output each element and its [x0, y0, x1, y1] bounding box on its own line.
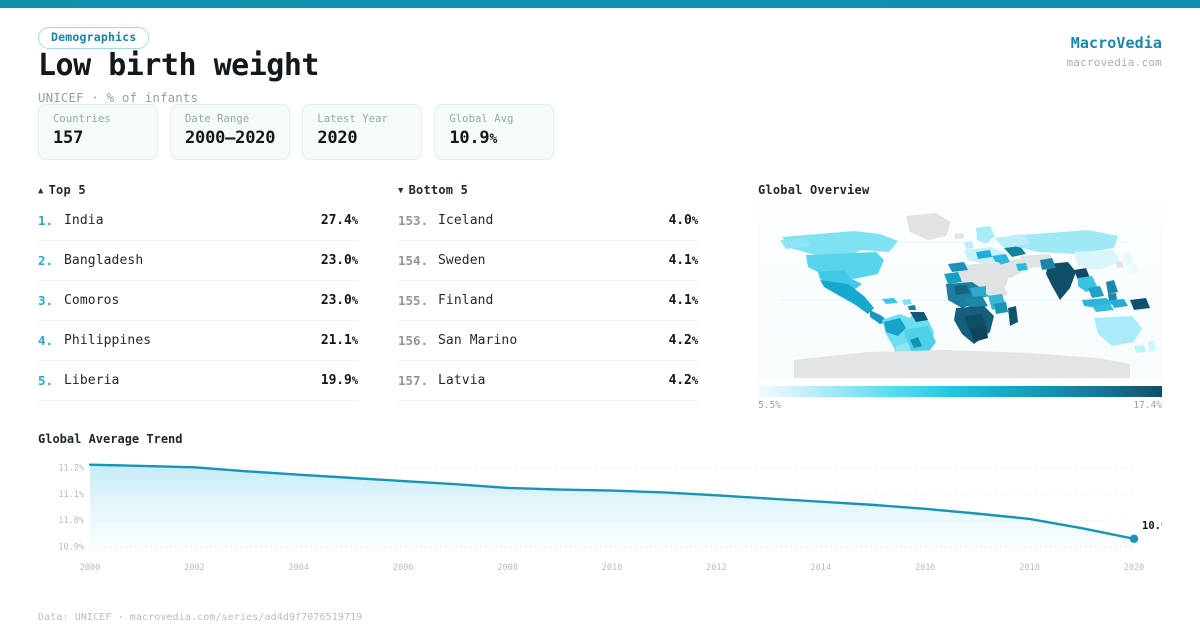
stat-card-value: 10.9% — [449, 128, 539, 148]
brand-url: macrovedia.com — [1066, 56, 1162, 69]
map-svg — [758, 200, 1162, 380]
list-item-value-suffix: % — [692, 255, 698, 267]
list-item-rank: 5. — [38, 373, 64, 388]
list-item[interactable]: 154.Sweden4.1% — [398, 241, 698, 281]
chart-x-tick: 2012 — [706, 563, 726, 573]
list-item-country: India — [64, 213, 321, 228]
list-item-rank: 1. — [38, 213, 64, 228]
top5-heading-label: Top 5 — [49, 183, 86, 197]
list-item-value-suffix: % — [692, 375, 698, 387]
list-item-country: Philippines — [64, 333, 321, 348]
chart-y-tick: 11.1% — [58, 490, 84, 500]
list-item-value: 4.0% — [669, 213, 698, 228]
chart-x-tick-labels: 2000200220042006200820102012201420162018… — [80, 563, 1144, 573]
triangle-down-icon: ▼ — [398, 186, 404, 196]
map-color-scale — [758, 386, 1162, 397]
chart-x-tick: 2016 — [915, 563, 935, 573]
stat-card-label: Latest Year — [317, 113, 407, 125]
list-item-rank: 155. — [398, 293, 438, 308]
list-item-country: Finland — [438, 293, 669, 308]
stat-card: Latest Year2020 — [302, 104, 422, 160]
list-item-rank: 156. — [398, 333, 438, 348]
map-heading: Global Overview — [758, 183, 869, 197]
list-item-value-suffix: % — [692, 295, 698, 307]
list-item-country: Sweden — [438, 253, 669, 268]
chart-x-tick: 2006 — [393, 563, 413, 573]
list-item-value-suffix: % — [352, 255, 358, 267]
brand-block: MacroVedia macrovedia.com — [1066, 34, 1162, 69]
list-item-value: 4.2% — [669, 373, 698, 388]
list-item-value-suffix: % — [692, 335, 698, 347]
list-item-country: San Marino — [438, 333, 669, 348]
stat-card-suffix: % — [489, 132, 497, 147]
stat-card: Global Avg10.9% — [434, 104, 554, 160]
trend-chart-title: Global Average Trend — [38, 432, 183, 446]
top5-heading: ▲Top 5 — [38, 183, 86, 197]
stat-card-value: 2000–2020 — [185, 128, 275, 148]
chart-x-tick: 2010 — [602, 563, 622, 573]
list-item-country: Liberia — [64, 373, 321, 388]
trend-chart-svg: 10.9%11.0%11.1%11.2% 2000200220042006200… — [38, 452, 1162, 582]
chart-x-tick: 2000 — [80, 563, 100, 573]
stat-card-value: 157 — [53, 128, 143, 148]
list-item[interactable]: 4.Philippines21.1% — [38, 321, 358, 361]
map-scale-min-label: 5.5% — [758, 400, 781, 411]
list-item-value-suffix: % — [352, 295, 358, 307]
chart-y-tick: 10.9% — [58, 543, 84, 553]
category-badge[interactable]: Demographics — [38, 27, 149, 49]
chart-area-fill — [90, 465, 1134, 552]
triangle-up-icon: ▲ — [38, 186, 44, 196]
list-item-value-suffix: % — [352, 335, 358, 347]
page-header: Demographics Low birth weight UNICEF · %… — [0, 8, 1200, 103]
footer-source: Data: UNICEF · macrovedia.com/series/ad4… — [38, 612, 362, 623]
list-item-rank: 154. — [398, 253, 438, 268]
accent-top-bar — [0, 0, 1200, 8]
list-item-value: 4.1% — [669, 293, 698, 308]
page-title: Low birth weight — [38, 48, 319, 83]
bottom5-list: 153.Iceland4.0%154.Sweden4.1%155.Finland… — [398, 201, 698, 401]
chart-x-tick: 2018 — [1019, 563, 1039, 573]
list-item-value-suffix: % — [692, 215, 698, 227]
list-item-rank: 153. — [398, 213, 438, 228]
stat-card-label: Countries — [53, 113, 143, 125]
list-item[interactable]: 5.Liberia19.9% — [38, 361, 358, 401]
stat-card-label: Date Range — [185, 113, 275, 125]
list-item[interactable]: 3.Comoros23.0% — [38, 281, 358, 321]
list-item[interactable]: 1.India27.4% — [38, 201, 358, 241]
list-item-country: Comoros — [64, 293, 321, 308]
list-item-value: 21.1% — [321, 333, 358, 348]
stat-card-value: 2020 — [317, 128, 407, 148]
list-item[interactable]: 156.San Marino4.2% — [398, 321, 698, 361]
stat-card: Countries157 — [38, 104, 158, 160]
list-item-rank: 2. — [38, 253, 64, 268]
chart-y-tick: 11.2% — [58, 463, 84, 473]
list-item-country: Latvia — [438, 373, 669, 388]
list-item[interactable]: 155.Finland4.1% — [398, 281, 698, 321]
list-item-country: Iceland — [438, 213, 669, 228]
page-subtitle: UNICEF · % of infants — [38, 90, 198, 105]
map-scale-max-label: 17.4% — [1120, 400, 1162, 411]
top5-list: 1.India27.4%2.Bangladesh23.0%3.Comoros23… — [38, 201, 358, 401]
world-choropleth-map[interactable] — [758, 200, 1162, 380]
brand-name: MacroVedia — [1066, 34, 1162, 52]
list-item[interactable]: 157.Latvia4.2% — [398, 361, 698, 401]
list-item-value: 4.1% — [669, 253, 698, 268]
chart-x-tick: 2004 — [289, 563, 309, 573]
list-item-rank: 3. — [38, 293, 64, 308]
chart-x-tick: 2002 — [184, 563, 204, 573]
trend-chart[interactable]: 10.9%11.0%11.1%11.2% 2000200220042006200… — [38, 452, 1162, 582]
list-item-value: 27.4% — [321, 213, 358, 228]
list-item-value: 23.0% — [321, 253, 358, 268]
chart-end-label: 10.9% — [1142, 520, 1162, 532]
stat-card-label: Global Avg — [449, 113, 539, 125]
list-item-value: 23.0% — [321, 293, 358, 308]
list-item-rank: 4. — [38, 333, 64, 348]
list-item-country: Bangladesh — [64, 253, 321, 268]
chart-y-tick-labels: 10.9%11.0%11.1%11.2% — [58, 463, 84, 552]
list-item-value: 4.2% — [669, 333, 698, 348]
stat-card-list: Countries157Date Range2000–2020Latest Ye… — [38, 104, 554, 160]
list-item[interactable]: 153.Iceland4.0% — [398, 201, 698, 241]
chart-x-tick: 2020 — [1124, 563, 1144, 573]
stat-card: Date Range2000–2020 — [170, 104, 290, 160]
list-item[interactable]: 2.Bangladesh23.0% — [38, 241, 358, 281]
list-item-rank: 157. — [398, 373, 438, 388]
bottom5-heading: ▼Bottom 5 — [398, 183, 468, 197]
chart-x-tick: 2008 — [497, 563, 517, 573]
chart-end-point — [1130, 535, 1138, 543]
list-item-value: 19.9% — [321, 373, 358, 388]
list-item-value-suffix: % — [352, 215, 358, 227]
chart-x-tick: 2014 — [811, 563, 831, 573]
chart-y-tick: 11.0% — [58, 516, 84, 526]
list-item-value-suffix: % — [352, 375, 358, 387]
bottom5-heading-label: Bottom 5 — [409, 183, 468, 197]
